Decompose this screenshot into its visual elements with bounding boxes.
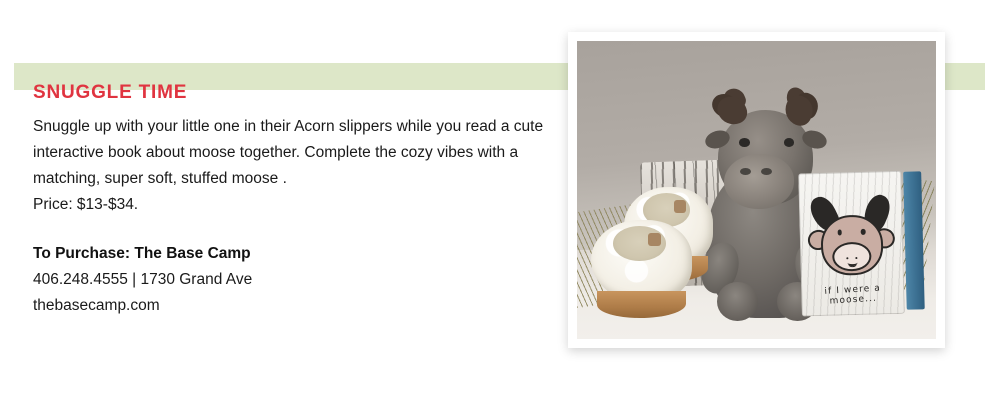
promo-card: SNUGGLE TIME Snuggle up with your little… <box>0 0 1000 400</box>
moose-antler-left <box>714 92 751 129</box>
sherpa-slipper-front <box>591 220 692 318</box>
book-cover: if I were a moose... <box>798 171 905 317</box>
moose-eye-left <box>739 138 749 147</box>
moose-snout <box>724 154 794 209</box>
moose-antler-right <box>780 92 817 129</box>
slipper-sole <box>597 291 685 319</box>
price-text: Price: $13-$34. <box>33 192 553 218</box>
slipper-tag <box>674 200 686 213</box>
moose-leg-left <box>717 282 758 321</box>
moose-nostril-right <box>761 168 772 175</box>
moose-ear-right <box>800 127 829 151</box>
slipper-tag <box>648 233 661 246</box>
book-moose-face <box>820 214 884 276</box>
purchase-block: To Purchase: The Base Camp 406.248.4555 … <box>33 241 553 319</box>
book-moose-smile <box>847 259 857 266</box>
book-spine <box>902 172 924 310</box>
text-column: SNUGGLE TIME Snuggle up with your little… <box>33 82 553 319</box>
purchase-retailer-label: To Purchase: The Base Camp <box>33 241 553 267</box>
moose-ear-left <box>703 127 732 151</box>
contact-phone-address: 406.248.4555 | 1730 Grand Ave <box>33 267 553 293</box>
book-moose-eye-right <box>860 229 865 235</box>
product-photo: if I were a moose... <box>577 41 936 339</box>
book-moose-eye-left <box>837 230 842 236</box>
page-title: SNUGGLE TIME <box>33 82 553 104</box>
moose-eye-right <box>784 138 794 147</box>
description-text: Snuggle up with your little one in their… <box>33 114 553 192</box>
moose-nostril-left <box>740 168 751 175</box>
book-cover-title: if I were a moose... <box>800 282 904 308</box>
board-book: if I were a moose... <box>798 171 917 317</box>
product-photo-frame: if I were a moose... <box>568 32 945 348</box>
book-moose-muzzle <box>831 241 871 271</box>
website-link[interactable]: thebasecamp.com <box>33 293 553 319</box>
